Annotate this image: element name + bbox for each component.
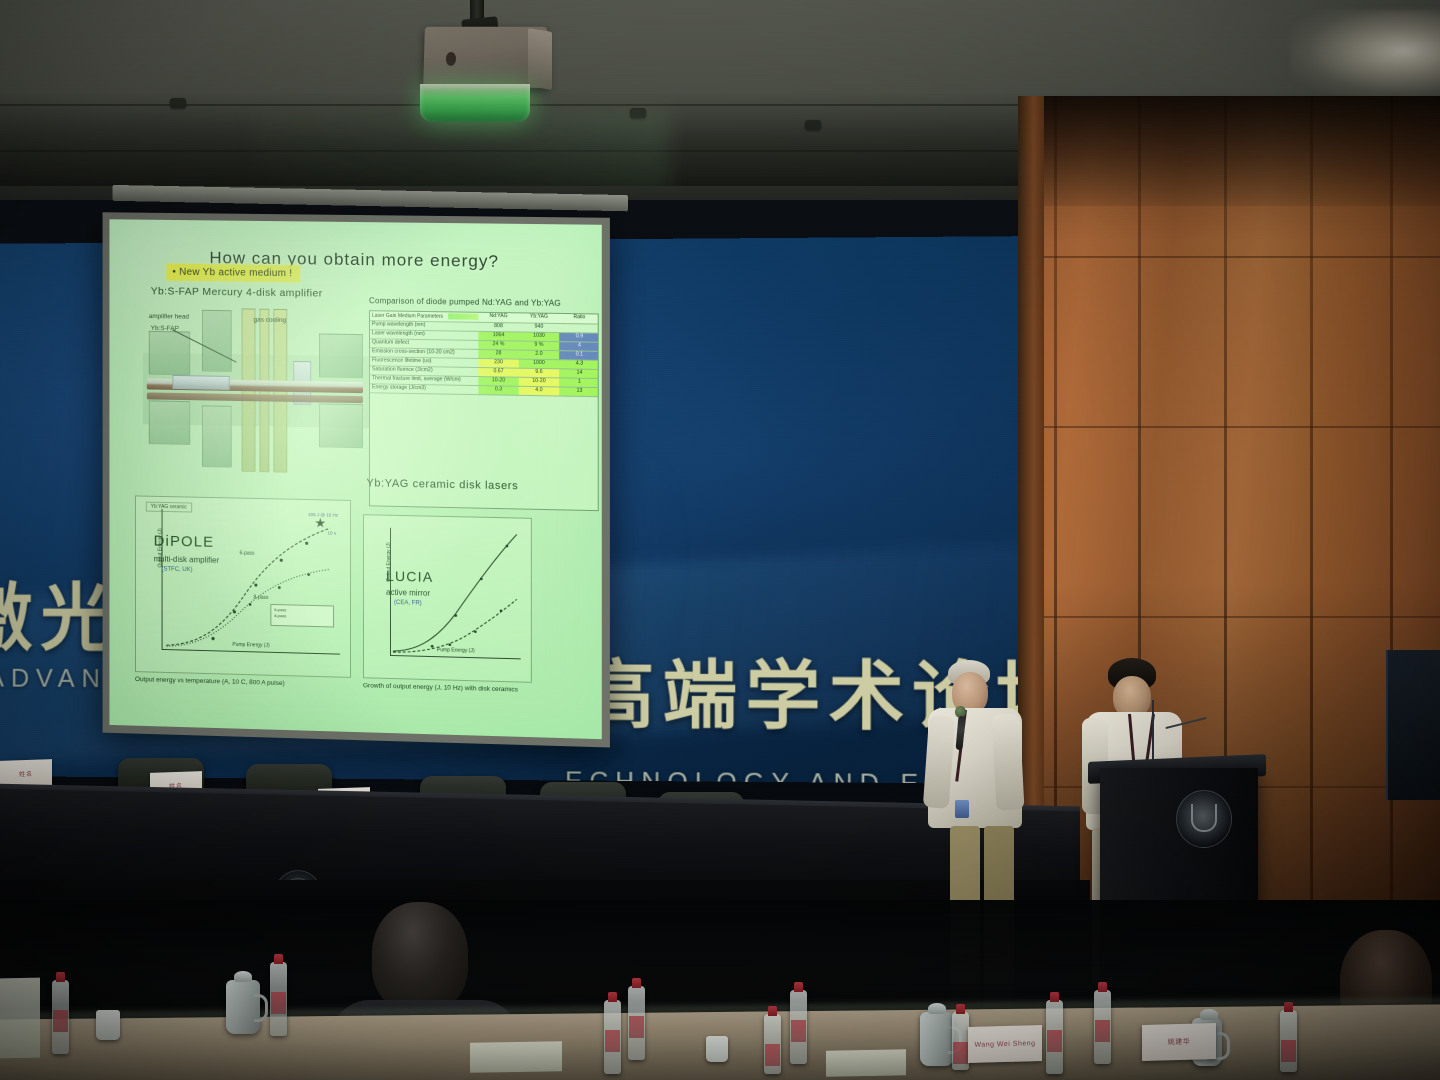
projector-lens-icon: [420, 84, 530, 122]
water-bottle: [52, 980, 69, 1054]
table-cell-value: 1064: [478, 332, 518, 341]
chart-dipole: Yb:YAG ceramic ★ 10: [135, 495, 351, 677]
chart-lucia-note: (CEA, FR): [394, 600, 422, 607]
wood-seam: [1018, 256, 1440, 258]
wood-seam: [1018, 426, 1440, 428]
water-bottle: [790, 990, 807, 1064]
chart-lucia-caption: Growth of output energy (J, 10 Hz) with …: [363, 682, 518, 693]
namecard-text: 姓名: [0, 768, 52, 779]
table-cell-value: 0.67: [478, 368, 518, 377]
chart-dipole-point-a: 105 J @ 10 Hz: [308, 512, 338, 518]
amplifier-diagram: amplifier head Yb:S-FAP gas cooling: [143, 305, 369, 476]
table-cell-value: 24 %: [478, 341, 518, 350]
cup: [706, 1036, 728, 1062]
table-cell-value: 4.0: [519, 387, 559, 396]
water-bottle: [952, 1012, 969, 1070]
table-cell-value: 9 %: [519, 342, 559, 351]
teapot: [226, 980, 260, 1034]
diagram-label: amplifier head: [149, 313, 189, 321]
wood-seam: [1054, 96, 1057, 906]
chart-dipole-plot: ★ 105 J @ 10 Hz 10 s 6-pass 8-pass 6-pas…: [162, 509, 340, 655]
chart-dipole-legend: 6-pass 8-pass: [270, 604, 334, 628]
paper-sheet: [0, 978, 40, 1059]
table-header-highlight: [448, 313, 478, 320]
chart-dipole-star-marker: ★: [314, 516, 326, 529]
table-cell-value: 13: [559, 387, 599, 396]
table-cell-value: 2.0: [519, 351, 559, 360]
table-cell-value: 808: [478, 323, 518, 332]
audience-member-head: [372, 902, 468, 1012]
wood-wall-shadow: [1018, 96, 1440, 206]
chart-dipole-svg: [163, 509, 340, 654]
chart-dipole-series-a-label: 6-pass: [240, 550, 255, 556]
diagram-label: Yb:S-FAP: [151, 325, 179, 332]
chart-dipole-note: (STFC, UK): [162, 567, 193, 574]
foreground-namecard: 姚建华: [1142, 1023, 1216, 1061]
table-cell-label: Quantum defect: [370, 339, 478, 349]
table-cell-value: 0.3: [478, 386, 518, 395]
water-bottle: [604, 1000, 621, 1074]
table-cell-label: Energy storage (J/cm3): [370, 384, 478, 394]
water-bottle: [270, 962, 287, 1036]
diagram-block: [149, 331, 190, 375]
water-bottle: [1094, 990, 1111, 1064]
diagram-block: [149, 400, 190, 444]
diagram-block: [319, 333, 363, 378]
legend-entry: 8-pass: [274, 613, 330, 620]
chart-lucia: Output Energy (J) Pump Energy (J) LUCIA …: [363, 514, 532, 683]
table-cell-value: 14: [559, 369, 599, 378]
table-cell-value: 9.6: [519, 369, 559, 378]
presentation-slide: How can you obtain more energy? • New Yb…: [109, 219, 601, 739]
presenter-badge: [955, 800, 969, 818]
diagram-block: [202, 405, 232, 467]
podium-mic-stand: [1152, 700, 1154, 760]
table-column-header: Yb:YAG: [519, 313, 559, 323]
water-bottle: [1280, 1010, 1297, 1072]
table-cell-value: 0.1: [559, 351, 599, 360]
cup: [96, 1010, 120, 1040]
water-bottle: [628, 986, 645, 1060]
table-cell-value: 10-20: [519, 378, 559, 387]
diagram-block: [319, 403, 363, 448]
water-bottle: [1046, 1000, 1063, 1074]
table-body: Pump wavelength (nm)808940Laser waveleng…: [370, 321, 598, 397]
table-cell-value: 28: [478, 350, 518, 359]
chart-dipole-caption: Output energy vs temperature (A, 10 C, 8…: [135, 676, 285, 687]
table-header-label: Laser Gain Medium Parameters: [370, 311, 478, 322]
table-cell-value: 1030: [519, 333, 559, 342]
conference-photo-scene: 激光制造 L ADVANCED 高端学术论坛 ECHNOLOGY AND EQU…: [0, 0, 1440, 1080]
table-cell-value: 940: [519, 323, 559, 332]
chart-lucia-subtitle: active mirror: [386, 588, 430, 598]
water-bottle: [764, 1014, 781, 1074]
table-cell-value: 0.9: [559, 333, 599, 342]
table-cell-value: 1000: [519, 360, 559, 369]
projector-side: [528, 28, 552, 90]
table-column-header: Ratio: [559, 314, 599, 324]
chart-lucia-name: LUCIA: [386, 568, 433, 585]
paper-sheet: [826, 1049, 906, 1076]
slide-table-caption: Comparison of diode pumped Nd:YAG and Yb…: [369, 296, 602, 308]
wood-seam: [1018, 616, 1440, 618]
foreground-namecard-text: Wang Wei Sheng: [974, 1040, 1035, 1049]
table-header-text: Laser Gain Medium Parameters: [372, 313, 443, 320]
table-cell-value: 10-20: [478, 377, 518, 386]
chart-dipole-series-b-label: 8-pass: [253, 595, 268, 601]
slide-highlight-bullet: • New Yb active medium !: [166, 264, 300, 283]
podium-emblem-icon: [1176, 790, 1232, 848]
teapot: [920, 1012, 954, 1066]
chart-dipole-subtitle: multi-disk amplifier: [154, 554, 219, 564]
table-cell-value: 1: [559, 378, 599, 387]
diagram-label: gas cooling: [253, 317, 286, 324]
table-cell-label: Laser wavelength (nm): [370, 330, 478, 340]
wall-display-panel: [1386, 650, 1440, 800]
table-column-header: Nd:YAG: [478, 313, 518, 323]
slide-left-subtitle: Yb:S-FAP Mercury 4-disk amplifier: [151, 285, 323, 299]
paper-sheet: [470, 1041, 562, 1073]
foreground-namecard-text: 姚建华: [1168, 1037, 1191, 1048]
table-cell-value: 4: [559, 342, 599, 351]
ceiling-light-icon: [1290, 10, 1440, 100]
table-cell-value: 230: [478, 359, 518, 368]
chart-dipole-name: DiPOLE: [154, 533, 215, 551]
projection-screen: How can you obtain more energy? • New Yb…: [103, 212, 610, 747]
chart-dipole-point-b: 10 s: [328, 530, 336, 535]
wood-seam: [1310, 96, 1313, 906]
table-cell-value: [559, 324, 599, 333]
presenter-arm-right: [992, 713, 1025, 810]
table-cell-label: Pump wavelength (nm): [370, 321, 478, 331]
diagram-block: [202, 310, 232, 372]
foreground-namecard: Wang Wei Sheng: [968, 1025, 1042, 1063]
table-cell-value: 4.3: [559, 360, 599, 369]
diagram-mirror: [172, 375, 229, 390]
